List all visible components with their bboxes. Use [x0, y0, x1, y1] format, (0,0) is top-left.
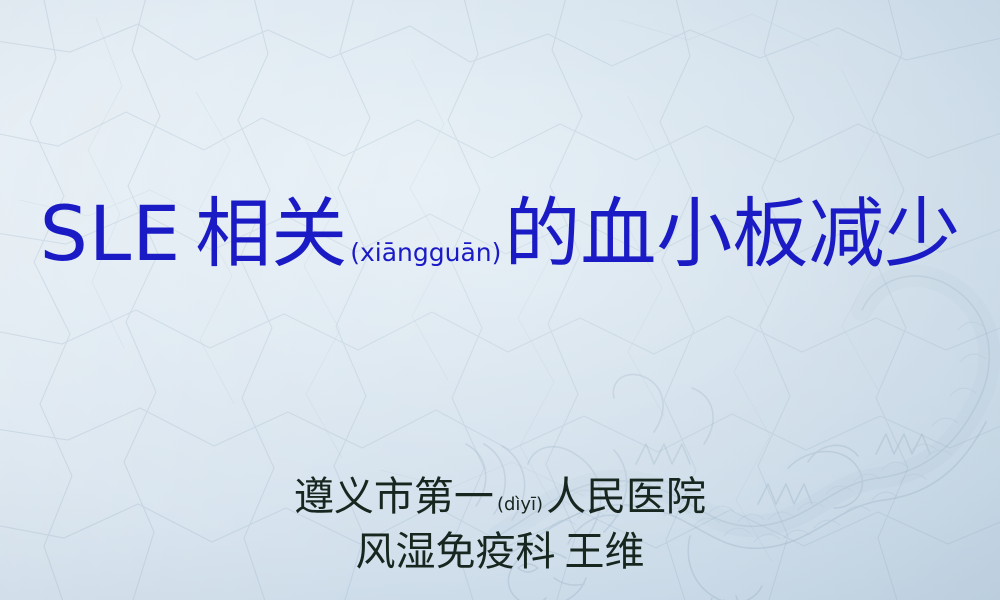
title-pinyin: (xiāngguān): [347, 238, 504, 267]
slide-subtitle: 遵义市第一(dìyī)人民医院 风湿免疫科王维: [0, 470, 1000, 580]
hospital-name-after: 人民医院: [546, 474, 706, 520]
title-chinese-after: 的血小板减少: [504, 189, 960, 278]
title-latin: SLE: [40, 189, 182, 278]
slide-title: SLE相关(xiāngguān)的血小板减少: [0, 196, 1000, 272]
hospital-pinyin: (dìyī): [494, 494, 546, 515]
title-chinese-before: 相关: [195, 189, 347, 278]
hospital-name-before: 遵义市第一: [294, 474, 494, 520]
presentation-title-slide: SLE相关(xiāngguān)的血小板减少 遵义市第一(dìyī)人民医院 风…: [0, 0, 1000, 600]
department-name: 风湿免疫科: [356, 529, 556, 575]
subtitle-line-hospital: 遵义市第一(dìyī)人民医院: [0, 470, 1000, 525]
title-line: SLE相关(xiāngguān)的血小板减少: [0, 196, 1000, 272]
presenter-name: 王维: [565, 529, 645, 575]
slide-content: SLE相关(xiāngguān)的血小板减少 遵义市第一(dìyī)人民医院 风…: [0, 0, 1000, 600]
subtitle-line-department: 风湿免疫科王维: [0, 525, 1000, 580]
